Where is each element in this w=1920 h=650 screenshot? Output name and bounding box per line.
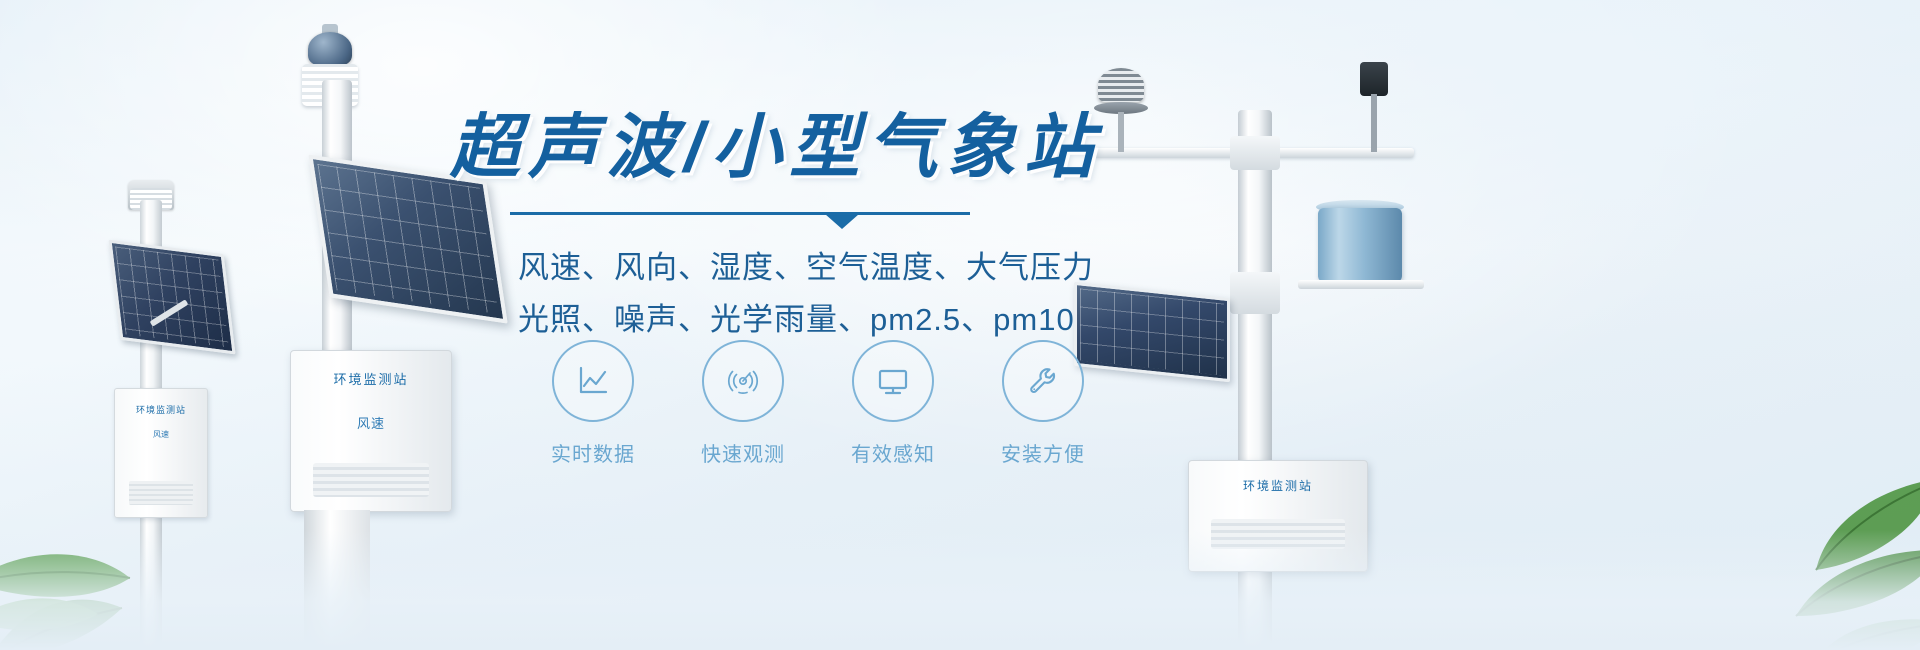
feature-item-easy-install[interactable]: 安装方便 (998, 340, 1088, 467)
mast-clamp-upper (1230, 136, 1280, 170)
cabinet-label: 环境监测站 (1199, 477, 1357, 494)
control-cabinet: 环境监测站 (1188, 460, 1368, 572)
divider-line (510, 212, 970, 215)
tropical-leaf-right-decor (1620, 420, 1920, 650)
line-chart-icon (552, 340, 634, 422)
radar-sensor-icon (702, 340, 784, 422)
mast-clamp-lower (1230, 272, 1280, 314)
cabinet-brand: 风速 (123, 429, 199, 440)
cabinet-vent (313, 463, 429, 497)
rain-gauge-shelf (1298, 280, 1424, 289)
feature-list: 实时数据 快速观测 (548, 340, 1088, 467)
cabinet-vent (129, 481, 193, 505)
wind-vane-icon (1360, 62, 1388, 96)
page-title: 超声波/小型气象站 (440, 108, 1140, 186)
chevron-down-icon (825, 214, 859, 229)
monitor-screen-icon (852, 340, 934, 422)
feature-item-effective-sensing[interactable]: 有效感知 (848, 340, 938, 467)
wind-vane-stem (1371, 94, 1377, 152)
control-cabinet: 环境监测站 风速 (290, 350, 452, 512)
headline-block: 超声波/小型气象站 风速、风向、湿度、空气温度、大气压力 光照、噪声、光学雨量、… (440, 108, 1140, 344)
rain-gauge-icon (1318, 208, 1402, 282)
feature-item-fast-observation[interactable]: 快速观测 (698, 340, 788, 467)
mast-base (304, 510, 370, 650)
cabinet-brand: 风速 (301, 413, 441, 432)
cabinet-vent (1211, 519, 1345, 549)
solar-panel (108, 240, 235, 355)
feature-label: 安装方便 (1001, 438, 1085, 467)
feature-item-realtime-data[interactable]: 实时数据 (548, 340, 638, 467)
feature-label: 快速观测 (701, 438, 785, 467)
product-banner: 环境监测站 风速 环境监测站 风速 环境监测站 (0, 0, 1920, 650)
ultrasonic-anemometer-icon (1098, 68, 1144, 102)
feature-label: 有效感知 (851, 438, 935, 467)
feature-label: 实时数据 (551, 438, 635, 467)
subtitle-line-1: 风速、风向、湿度、空气温度、大气压力 (518, 244, 1140, 292)
control-cabinet: 环境监测站 风速 (114, 388, 208, 518)
weather-station-small-left: 环境监测站 风速 (96, 170, 296, 650)
subtitle-line-2: 光照、噪声、光学雨量、pm2.5、pm10 (518, 296, 1140, 344)
cabinet-label: 环境监测站 (123, 403, 199, 416)
divider (510, 212, 970, 234)
cabinet-label: 环境监测站 (301, 369, 441, 388)
total-radiation-dome-icon (308, 32, 352, 66)
wrench-icon (1002, 340, 1084, 422)
